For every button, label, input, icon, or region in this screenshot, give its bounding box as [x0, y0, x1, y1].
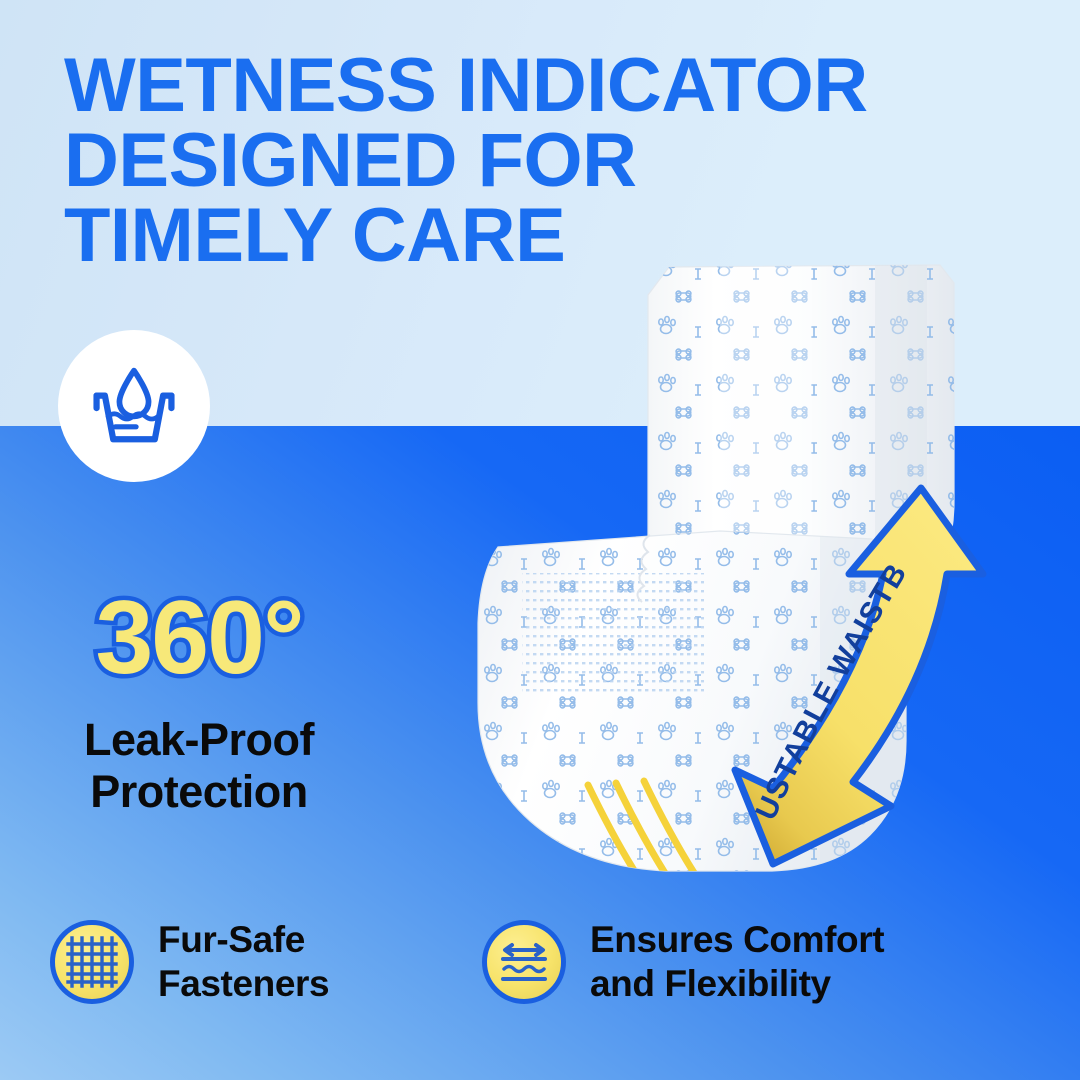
subtitle-line-2: Protection — [34, 766, 364, 818]
headline: WETNESS INDICATOR DESIGNED FOR TIMELY CA… — [64, 48, 964, 274]
stretch-arrows-icon — [494, 932, 554, 992]
curved-double-arrow: ADJUSTABLE WAISTBAND — [715, 470, 1025, 890]
wetness-indicator-badge — [58, 330, 210, 482]
feature-label-1-line-1: Fur-Safe — [158, 918, 329, 962]
feature-label-2: Ensures Comfort and Flexibility — [590, 918, 884, 1007]
mesh-grid-icon — [62, 932, 122, 992]
feature-fur-safe-fasteners: Fur-Safe Fasteners — [50, 918, 329, 1007]
feature-icon-circle-2 — [482, 920, 566, 1004]
feature-label-2-line-2: and Flexibility — [590, 962, 884, 1006]
adjustable-waistband-callout: ADJUSTABLE WAISTBAND — [715, 470, 1025, 890]
subtitle-line-1: Leak-Proof — [34, 714, 364, 766]
degrees-value: 360° — [34, 586, 364, 690]
wetness-indicator-patch — [522, 573, 704, 695]
feature-label-2-line-1: Ensures Comfort — [590, 918, 884, 962]
water-drop-basin-icon — [82, 354, 186, 458]
headline-line-1: WETNESS INDICATOR — [64, 48, 964, 123]
feature-label-1: Fur-Safe Fasteners — [158, 918, 329, 1007]
feature-icon-circle-1 — [50, 920, 134, 1004]
leak-proof-highlight: 360° Leak-Proof Protection — [34, 586, 364, 818]
feature-ensures-comfort: Ensures Comfort and Flexibility — [482, 918, 884, 1007]
infographic-canvas: WETNESS INDICATOR DESIGNED FOR TIMELY CA… — [0, 0, 1080, 1080]
headline-line-2: DESIGNED FOR — [64, 123, 964, 198]
feature-label-1-line-2: Fasteners — [158, 962, 329, 1006]
leak-proof-subtitle: Leak-Proof Protection — [34, 714, 364, 818]
